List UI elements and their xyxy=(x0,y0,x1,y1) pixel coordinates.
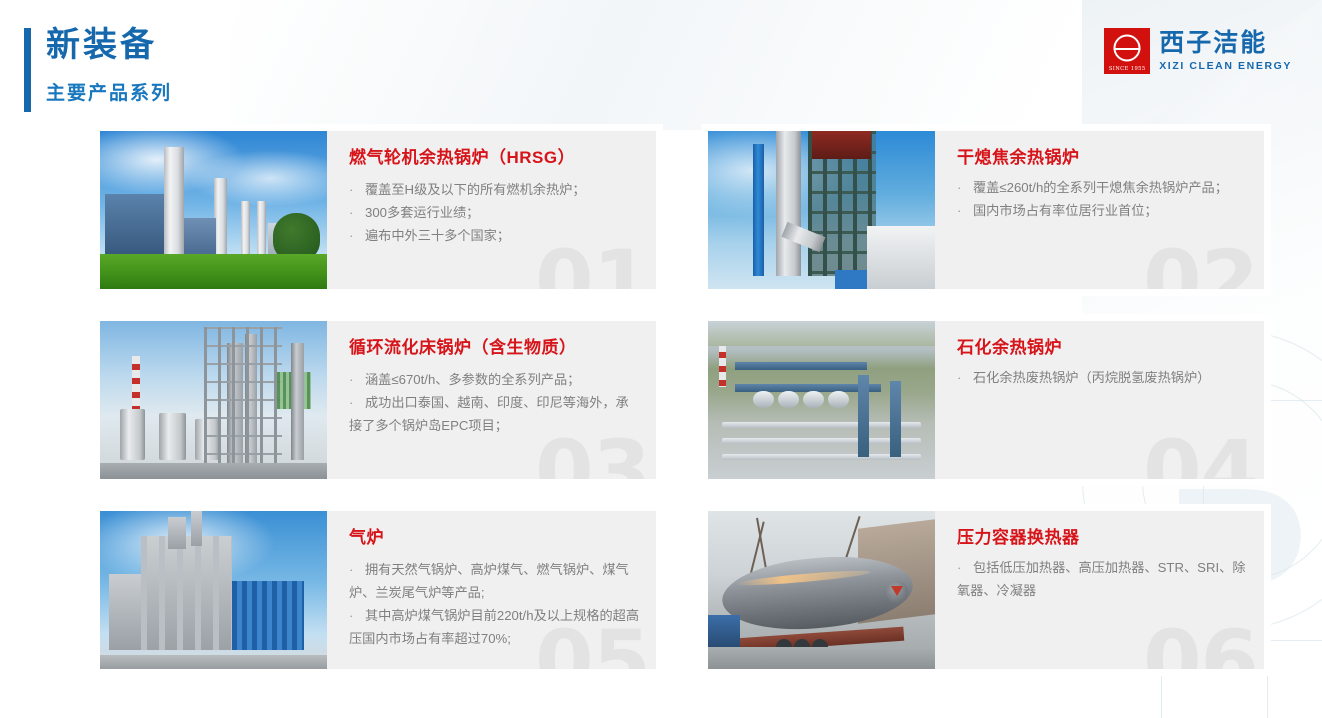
product-heading-03: 循环流化床锅炉（含生物质） xyxy=(349,338,640,358)
bullet-text: 成功出口泰国、越南、印度、印尼等海外，承接了多个锅炉岛EPC项目； xyxy=(349,395,629,433)
product-bullets-02: ·覆盖≤260t/h的全系列干熄焦余热锅炉产品； ·国内市场占有率位居行业首位； xyxy=(957,177,1248,223)
product-card-grid: 燃气轮机余热锅炉（HRSG） ·覆盖至H级及以下的所有燃机余热炉； ·300多套… xyxy=(93,124,1271,676)
product-body-02: 干熄焦余热锅炉 ·覆盖≤260t/h的全系列干熄焦余热锅炉产品； ·国内市场占有… xyxy=(935,131,1264,289)
product-photo-02 xyxy=(708,131,935,289)
product-body-05: 气炉 ·拥有天然气锅炉、高炉煤气、燃气锅炉、煤气炉、兰炭尾气炉等产品; ·其中高… xyxy=(327,511,656,669)
logo-wordmark: 西子洁能 XIZI CLEAN ENERGY xyxy=(1159,31,1292,72)
bullet-text: 拥有天然气锅炉、高炉煤气、燃气锅炉、煤气炉、兰炭尾气炉等产品; xyxy=(349,562,629,600)
bullet-item: ·石化余热废热锅炉（丙烷脱氢废热锅炉） xyxy=(957,367,1248,390)
bullet-text: 300多套运行业绩； xyxy=(365,205,479,220)
page-header: 新装备 主要产品系列 xyxy=(46,24,172,105)
logo-mark-icon: SINCE 1955 xyxy=(1104,28,1150,74)
product-photo-04 xyxy=(708,321,935,479)
brand-logo: SINCE 1955 西子洁能 XIZI CLEAN ENERGY xyxy=(1104,28,1292,74)
product-bullets-04: ·石化余热废热锅炉（丙烷脱氢废热锅炉） xyxy=(957,367,1248,390)
logo-since-text: SINCE 1955 xyxy=(1104,66,1150,72)
product-photo-05 xyxy=(100,511,327,669)
bullet-item: ·覆盖≤260t/h的全系列干熄焦余热锅炉产品； xyxy=(957,177,1248,200)
product-bullets-06: ·包括低压加热器、高压加热器、STR、SRI、除氧器、冷凝器 xyxy=(957,557,1248,603)
bullet-text: 国内市场占有率位居行业首位； xyxy=(973,203,1158,218)
logo-e-bar xyxy=(1114,48,1141,50)
product-heading-04: 石化余热锅炉 xyxy=(957,338,1248,358)
product-card-02[interactable]: 干熄焦余热锅炉 ·覆盖≤260t/h的全系列干熄焦余热锅炉产品； ·国内市场占有… xyxy=(701,124,1271,296)
bullet-item: ·300多套运行业绩； xyxy=(349,202,640,225)
product-photo-03 xyxy=(100,321,327,479)
product-photo-01 xyxy=(100,131,327,289)
bullet-item: ·国内市场占有率位居行业首位； xyxy=(957,200,1248,223)
product-heading-05: 气炉 xyxy=(349,528,640,548)
bullet-text: 包括低压加热器、高压加热器、STR、SRI、除氧器、冷凝器 xyxy=(957,560,1246,598)
product-card-06[interactable]: 压力容器换热器 ·包括低压加热器、高压加热器、STR、SRI、除氧器、冷凝器 0… xyxy=(701,504,1271,676)
bullet-item: ·其中高炉煤气锅炉目前220t/h及以上规格的超高压国内市场占有率超过70%; xyxy=(349,605,640,651)
page-title: 新装备 xyxy=(46,24,172,67)
product-heading-02: 干熄焦余热锅炉 xyxy=(957,148,1248,168)
title-accent-bar xyxy=(24,28,31,112)
bullet-item: ·拥有天然气锅炉、高炉煤气、燃气锅炉、煤气炉、兰炭尾气炉等产品; xyxy=(349,559,640,605)
bullet-item: ·涵盖≤670t/h、多参数的全系列产品； xyxy=(349,369,640,392)
product-card-04[interactable]: 石化余热锅炉 ·石化余热废热锅炉（丙烷脱氢废热锅炉） 04 xyxy=(701,314,1271,486)
product-body-01: 燃气轮机余热锅炉（HRSG） ·覆盖至H级及以下的所有燃机余热炉； ·300多套… xyxy=(327,131,656,289)
bullet-text: 覆盖≤260t/h的全系列干熄焦余热锅炉产品； xyxy=(973,180,1228,195)
product-card-01[interactable]: 燃气轮机余热锅炉（HRSG） ·覆盖至H级及以下的所有燃机余热炉； ·300多套… xyxy=(93,124,663,296)
bullet-text: 遍布中外三十多个国家； xyxy=(365,228,510,243)
product-photo-06 xyxy=(708,511,935,669)
product-body-03: 循环流化床锅炉（含生物质） ·涵盖≤670t/h、多参数的全系列产品； ·成功出… xyxy=(327,321,656,479)
product-heading-01: 燃气轮机余热锅炉（HRSG） xyxy=(349,148,640,168)
product-bullets-05: ·拥有天然气锅炉、高炉煤气、燃气锅炉、煤气炉、兰炭尾气炉等产品; ·其中高炉煤气… xyxy=(349,559,640,651)
logo-name-en: XIZI CLEAN ENERGY xyxy=(1159,61,1292,72)
bullet-item: ·覆盖至H级及以下的所有燃机余热炉； xyxy=(349,179,640,202)
product-body-06: 压力容器换热器 ·包括低压加热器、高压加热器、STR、SRI、除氧器、冷凝器 xyxy=(935,511,1264,669)
logo-name-cn: 西子洁能 xyxy=(1159,31,1292,56)
product-heading-06: 压力容器换热器 xyxy=(957,528,1248,548)
page-subtitle: 主要产品系列 xyxy=(46,78,172,105)
bullet-text: 涵盖≤670t/h、多参数的全系列产品； xyxy=(365,372,580,387)
product-card-03[interactable]: 循环流化床锅炉（含生物质） ·涵盖≤670t/h、多参数的全系列产品； ·成功出… xyxy=(93,314,663,486)
product-card-05[interactable]: 气炉 ·拥有天然气锅炉、高炉煤气、燃气锅炉、煤气炉、兰炭尾气炉等产品; ·其中高… xyxy=(93,504,663,676)
product-bullets-01: ·覆盖至H级及以下的所有燃机余热炉； ·300多套运行业绩； ·遍布中外三十多个… xyxy=(349,179,640,248)
bullet-text: 其中高炉煤气锅炉目前220t/h及以上规格的超高压国内市场占有率超过70%; xyxy=(349,608,639,646)
product-bullets-03: ·涵盖≤670t/h、多参数的全系列产品； ·成功出口泰国、越南、印度、印尼等海… xyxy=(349,369,640,438)
product-body-04: 石化余热锅炉 ·石化余热废热锅炉（丙烷脱氢废热锅炉） xyxy=(935,321,1264,479)
bullet-text: 石化余热废热锅炉（丙烷脱氢废热锅炉） xyxy=(973,370,1210,385)
bullet-item: ·成功出口泰国、越南、印度、印尼等海外，承接了多个锅炉岛EPC项目； xyxy=(349,392,640,438)
bullet-item: ·遍布中外三十多个国家； xyxy=(349,225,640,248)
bullet-item: ·包括低压加热器、高压加热器、STR、SRI、除氧器、冷凝器 xyxy=(957,557,1248,603)
bullet-text: 覆盖至H级及以下的所有燃机余热炉； xyxy=(365,182,586,197)
